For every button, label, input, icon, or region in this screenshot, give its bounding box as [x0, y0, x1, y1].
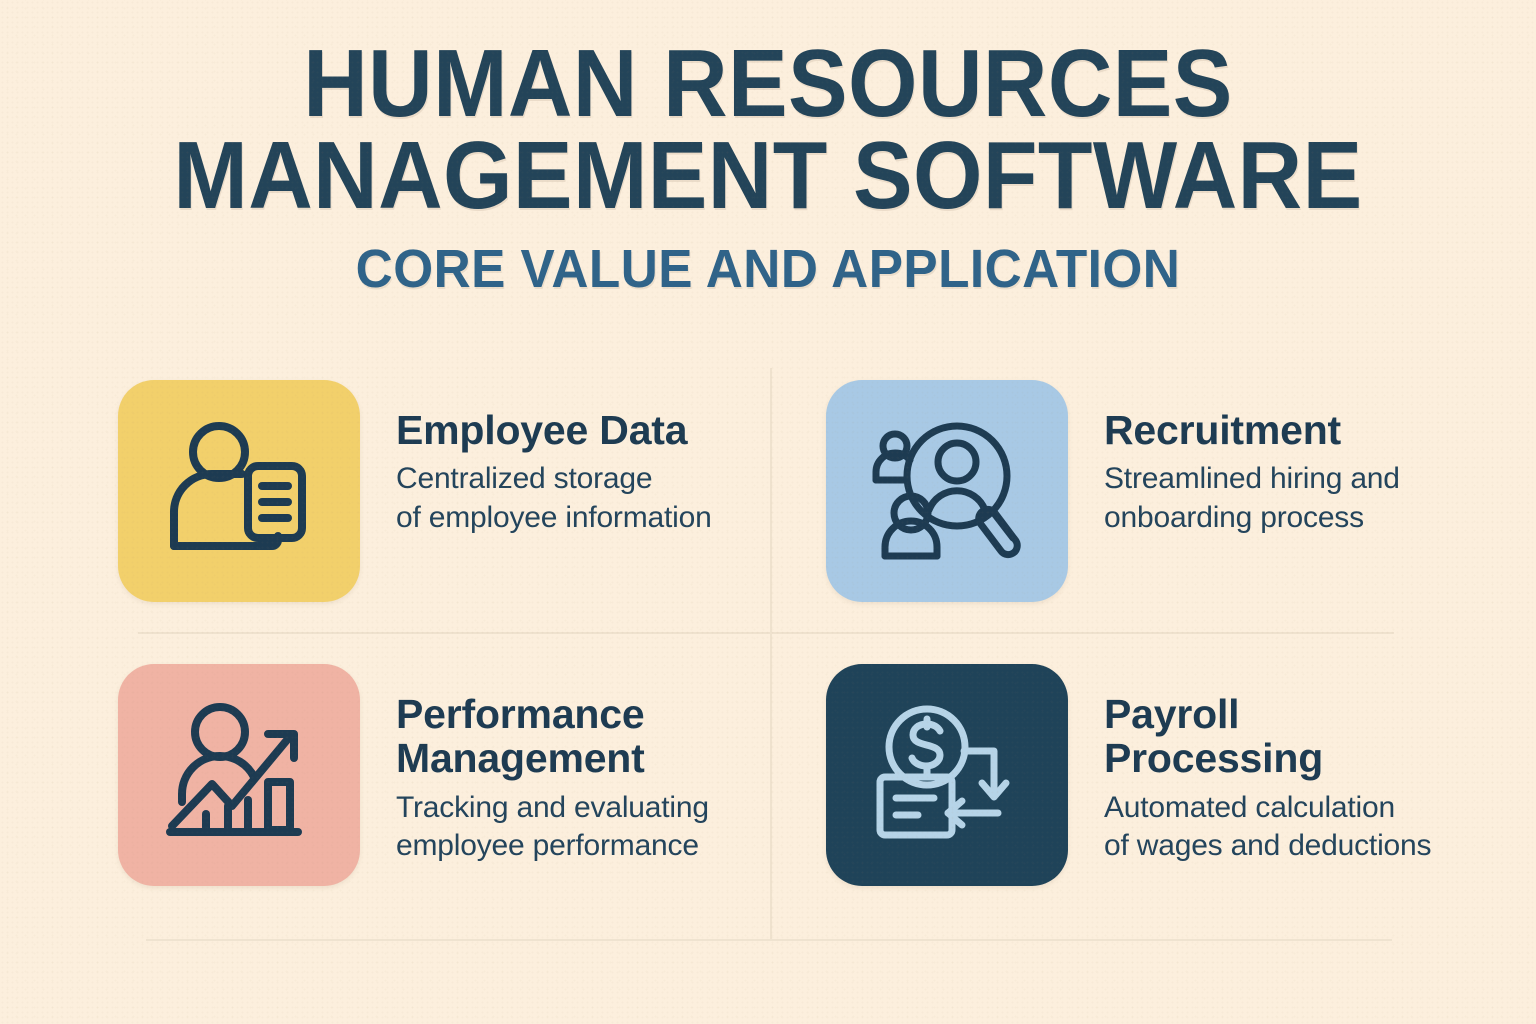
- feature-row: Employee Data Centralized storage of emp…: [0, 368, 1536, 614]
- card-description-performance-management: Tracking and evaluating employee perform…: [396, 789, 709, 866]
- card-description-recruitment: Streamlined hiring and onboarding proces…: [1104, 460, 1400, 537]
- title-line-2: Management Software: [54, 130, 1482, 222]
- feature-text-payroll-processing: Payroll Processing Automated calculation…: [1068, 664, 1431, 865]
- header: Human Resources Management Software Core…: [0, 38, 1536, 300]
- card-title-performance-management: Performance Management: [396, 692, 709, 781]
- infographic-page: Human Resources Management Software Core…: [0, 0, 1536, 1024]
- feature-card-performance-management: Performance Management Tracking and eval…: [0, 652, 768, 898]
- money-transfer-icon: [872, 703, 1022, 847]
- icon-tile-payroll-processing: [826, 664, 1068, 886]
- candidate-search-icon: [871, 418, 1023, 564]
- growth-chart-person-icon: [164, 702, 314, 848]
- feature-card-payroll-processing: Payroll Processing Automated calculation…: [768, 652, 1536, 898]
- card-description-employee-data: Centralized storage of employee informat…: [396, 460, 712, 537]
- title-line-1: Human Resources: [303, 30, 1233, 137]
- card-title-recruitment: Recruitment: [1104, 408, 1400, 452]
- card-description-payroll-processing: Automated calculation of wages and deduc…: [1104, 789, 1431, 866]
- feature-card-employee-data: Employee Data Centralized storage of emp…: [0, 368, 768, 614]
- icon-tile-performance-management: [118, 664, 360, 886]
- page-title: Human Resources Management Software: [54, 38, 1482, 222]
- page-subtitle: Core Value and Application: [38, 238, 1497, 300]
- feature-card-recruitment: Recruitment Streamlined hiring and onboa…: [768, 368, 1536, 614]
- feature-text-recruitment: Recruitment Streamlined hiring and onboa…: [1068, 380, 1400, 537]
- horizontal-divider-bottom: [146, 939, 1392, 941]
- icon-tile-recruitment: [826, 380, 1068, 602]
- card-title-payroll-processing: Payroll Processing: [1104, 692, 1431, 781]
- feature-row: Performance Management Tracking and eval…: [0, 652, 1536, 898]
- feature-text-performance-management: Performance Management Tracking and eval…: [360, 664, 709, 865]
- feature-grid: Employee Data Centralized storage of emp…: [0, 368, 1536, 898]
- employee-record-icon: [164, 420, 314, 562]
- feature-text-employee-data: Employee Data Centralized storage of emp…: [360, 380, 712, 537]
- icon-tile-employee-data: [118, 380, 360, 602]
- card-title-employee-data: Employee Data: [396, 408, 712, 452]
